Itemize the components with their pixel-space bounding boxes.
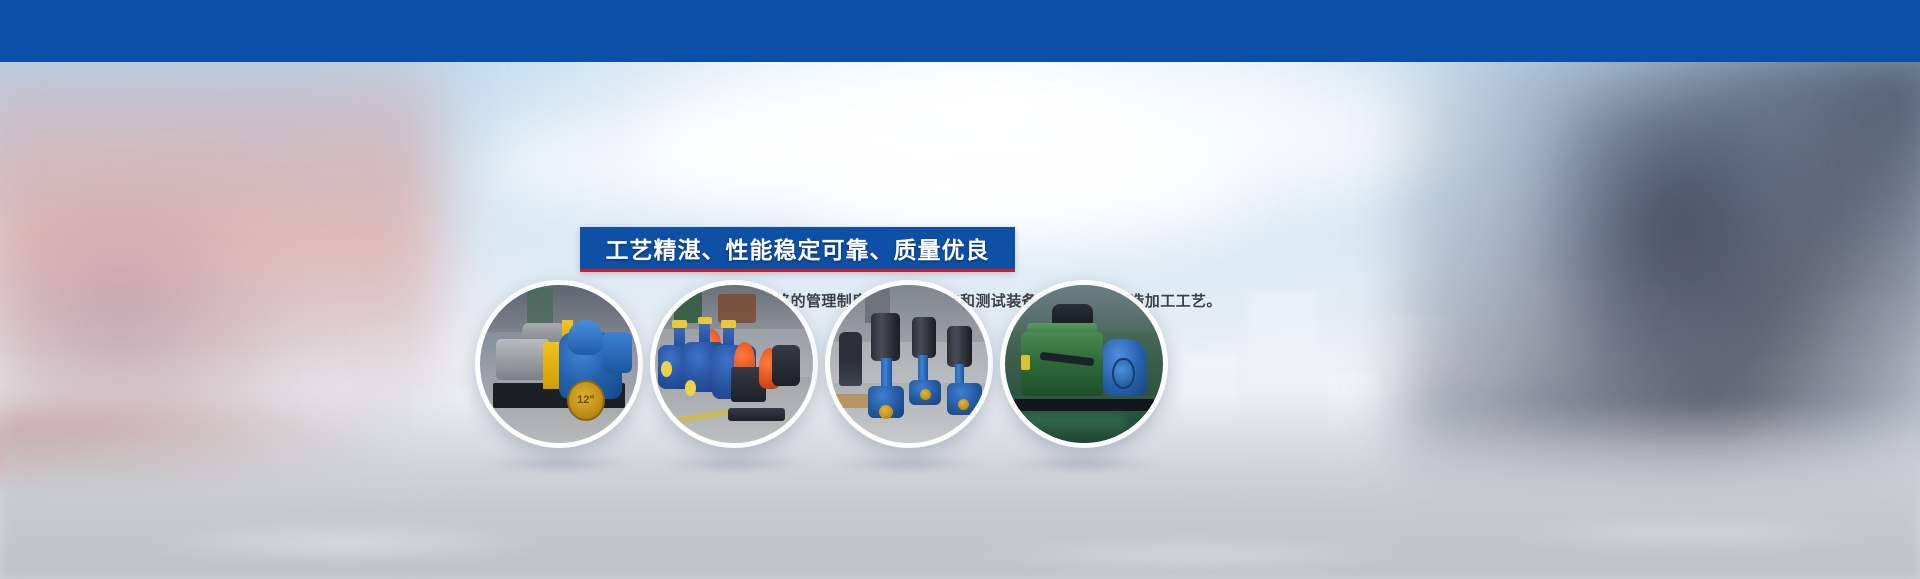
gallery-item-split-case-pump[interactable]: 12" xyxy=(475,280,643,448)
split-case-pump-photo: 12" xyxy=(480,285,638,443)
pump-size-plate: 12" xyxy=(567,380,605,421)
circle-shadow xyxy=(484,456,634,472)
product-photo-gallery: 12" xyxy=(0,280,1920,579)
slurry-pump-photo xyxy=(655,285,813,443)
cloud-shape xyxy=(480,122,780,212)
circle-shadow xyxy=(659,456,809,472)
diesel-engine-pump-photo xyxy=(1005,285,1163,443)
gallery-item-slurry-pump-row[interactable] xyxy=(650,280,818,448)
headline-text: 工艺精湛、性能稳定可靠、质量优良 xyxy=(606,231,990,265)
circle-shadow xyxy=(1009,456,1159,472)
circle-shadow xyxy=(834,456,984,472)
gallery-item-vertical-inline-pumps[interactable] xyxy=(825,280,993,448)
gallery-item-diesel-engine-pump-set[interactable] xyxy=(1000,280,1168,448)
pump-size-label: 12" xyxy=(569,394,603,406)
hero-banner: 工艺精湛、性能稳定可靠、质量优良 公司具有严格的管理制度，先进的制造和测试装备以… xyxy=(0,62,1920,579)
top-navigation-bar[interactable] xyxy=(0,0,1920,62)
vertical-inline-pump-photo xyxy=(830,285,988,443)
headline-banner: 工艺精湛、性能稳定可靠、质量优良 xyxy=(580,227,1015,272)
cloud-shape xyxy=(1080,92,1440,188)
